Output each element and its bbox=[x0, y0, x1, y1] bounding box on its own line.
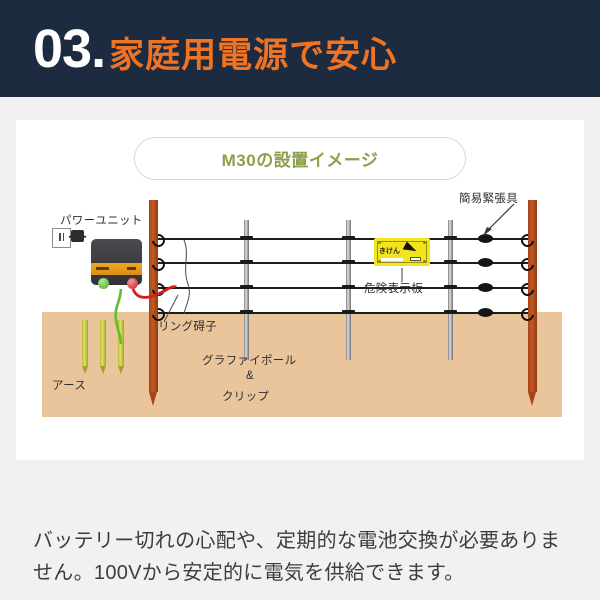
diagram-title-text: M30の設置イメージ bbox=[222, 146, 379, 171]
sign-screw-tl bbox=[378, 241, 381, 244]
header-inner: 03. 家庭用電源で安心 bbox=[33, 22, 397, 76]
sign-screw-tr bbox=[423, 241, 426, 244]
sign-bar-1 bbox=[381, 258, 403, 261]
sign-screw-br bbox=[423, 260, 426, 263]
diagram-title-pill: M30の設置イメージ bbox=[134, 137, 466, 180]
label-graphite-pole: グラファイポール bbox=[202, 352, 296, 368]
header-title: 家庭用電源で安心 bbox=[109, 38, 397, 73]
diagram-card: M30の設置イメージ bbox=[16, 120, 584, 460]
section-header: 03. 家庭用電源で安心 bbox=[0, 0, 600, 97]
label-clip: クリップ bbox=[222, 388, 269, 404]
danger-sign: きけん bbox=[374, 238, 430, 266]
cable-paths bbox=[16, 192, 584, 460]
danger-sign-text: きけん bbox=[379, 246, 400, 256]
label-tensioner: 簡易緊張具 bbox=[459, 190, 518, 206]
label-graphite-amp: & bbox=[246, 370, 254, 382]
label-power-unit: パワーユニット bbox=[60, 212, 143, 228]
installation-diagram: きけん パワーユニット アース リング碍子 グラファイポール & クリップ 危険… bbox=[16, 192, 584, 460]
label-ring-insulator: リング碍子 bbox=[158, 318, 217, 334]
label-earth: アース bbox=[52, 377, 86, 393]
header-number: 03. bbox=[33, 22, 105, 76]
label-danger-sign: 危険表示板 bbox=[364, 280, 423, 296]
body-description: バッテリー切れの心配や、定期的な電池交換が必要ありません。100Vから安定的に電… bbox=[33, 525, 573, 590]
sign-bar-2 bbox=[410, 257, 421, 261]
